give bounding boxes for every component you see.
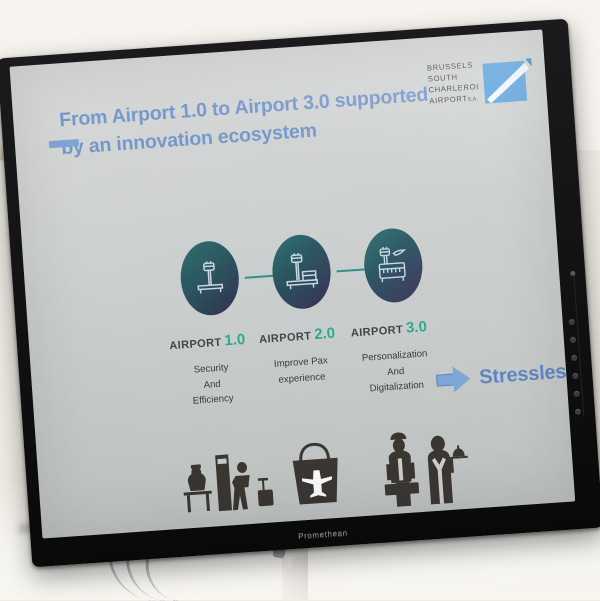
control-tower-terminal-icon [270, 233, 333, 311]
display-panel: From Airport 1.0 to Airport 3.0 supporte… [10, 29, 576, 538]
stage-2-label: AIRPORT2.0 [258, 325, 335, 348]
stage-1-label: AIRPORT1.0 [169, 331, 246, 354]
presentation-slide[interactable]: From Airport 1.0 to Airport 3.0 supporte… [10, 29, 576, 538]
promethean-display: From Airport 1.0 to Airport 3.0 supporte… [0, 19, 600, 568]
security-checkpoint-pictogram [177, 445, 286, 524]
power-led [570, 271, 575, 276]
outcome-block: Stressless [436, 358, 576, 394]
logo-line-4: AIRPORTS.A. [429, 93, 480, 107]
logo-suffix: S.A. [468, 96, 479, 103]
stage-1-ellipse [178, 239, 241, 317]
stage-2-ellipse [270, 233, 333, 311]
stage-1-caption: Security And Efficiency [163, 358, 262, 411]
smart-airport-terminal-plane-icon [362, 226, 425, 304]
logo-triangle [525, 58, 532, 66]
bottom-pictograms [36, 411, 575, 534]
blue-block-arrow-icon [436, 365, 472, 393]
control-button[interactable] [568, 319, 574, 325]
personal-service-pictogram [376, 426, 473, 510]
control-tower-icon [178, 239, 241, 317]
duty-free-shopping-bag-pictogram [283, 436, 350, 512]
stage-node-2[interactable] [270, 233, 333, 311]
control-button[interactable] [572, 373, 578, 379]
control-button[interactable] [570, 337, 576, 343]
stage-3-ellipse [362, 226, 425, 304]
control-button[interactable] [571, 355, 577, 361]
slide-title-block: From Airport 1.0 to Airport 3.0 supporte… [58, 81, 441, 163]
logo-text: BRUSSELS SOUTH CHARLEROI AIRPORTS.A. [427, 61, 480, 108]
control-button[interactable] [575, 409, 581, 415]
control-button[interactable] [574, 391, 580, 397]
stage-3-caption: Personalization And Digitalization [342, 345, 449, 399]
page-title: From Airport 1.0 to Airport 3.0 supporte… [58, 81, 441, 163]
stage-node-1[interactable] [178, 239, 241, 317]
logo-mark-icon [482, 57, 531, 104]
stage-node-3[interactable] [362, 226, 425, 304]
stage-3-label: AIRPORT3.0 [350, 318, 427, 341]
brand-logo: Promethean [263, 526, 383, 543]
logo-swoosh-icon [485, 63, 532, 104]
airport-logo: BRUSSELS SOUTH CHARLEROI AIRPORTS.A. [427, 57, 531, 108]
stage-2-caption: Improve Pax experience [252, 352, 350, 390]
outcome-label: Stressless [479, 359, 576, 389]
